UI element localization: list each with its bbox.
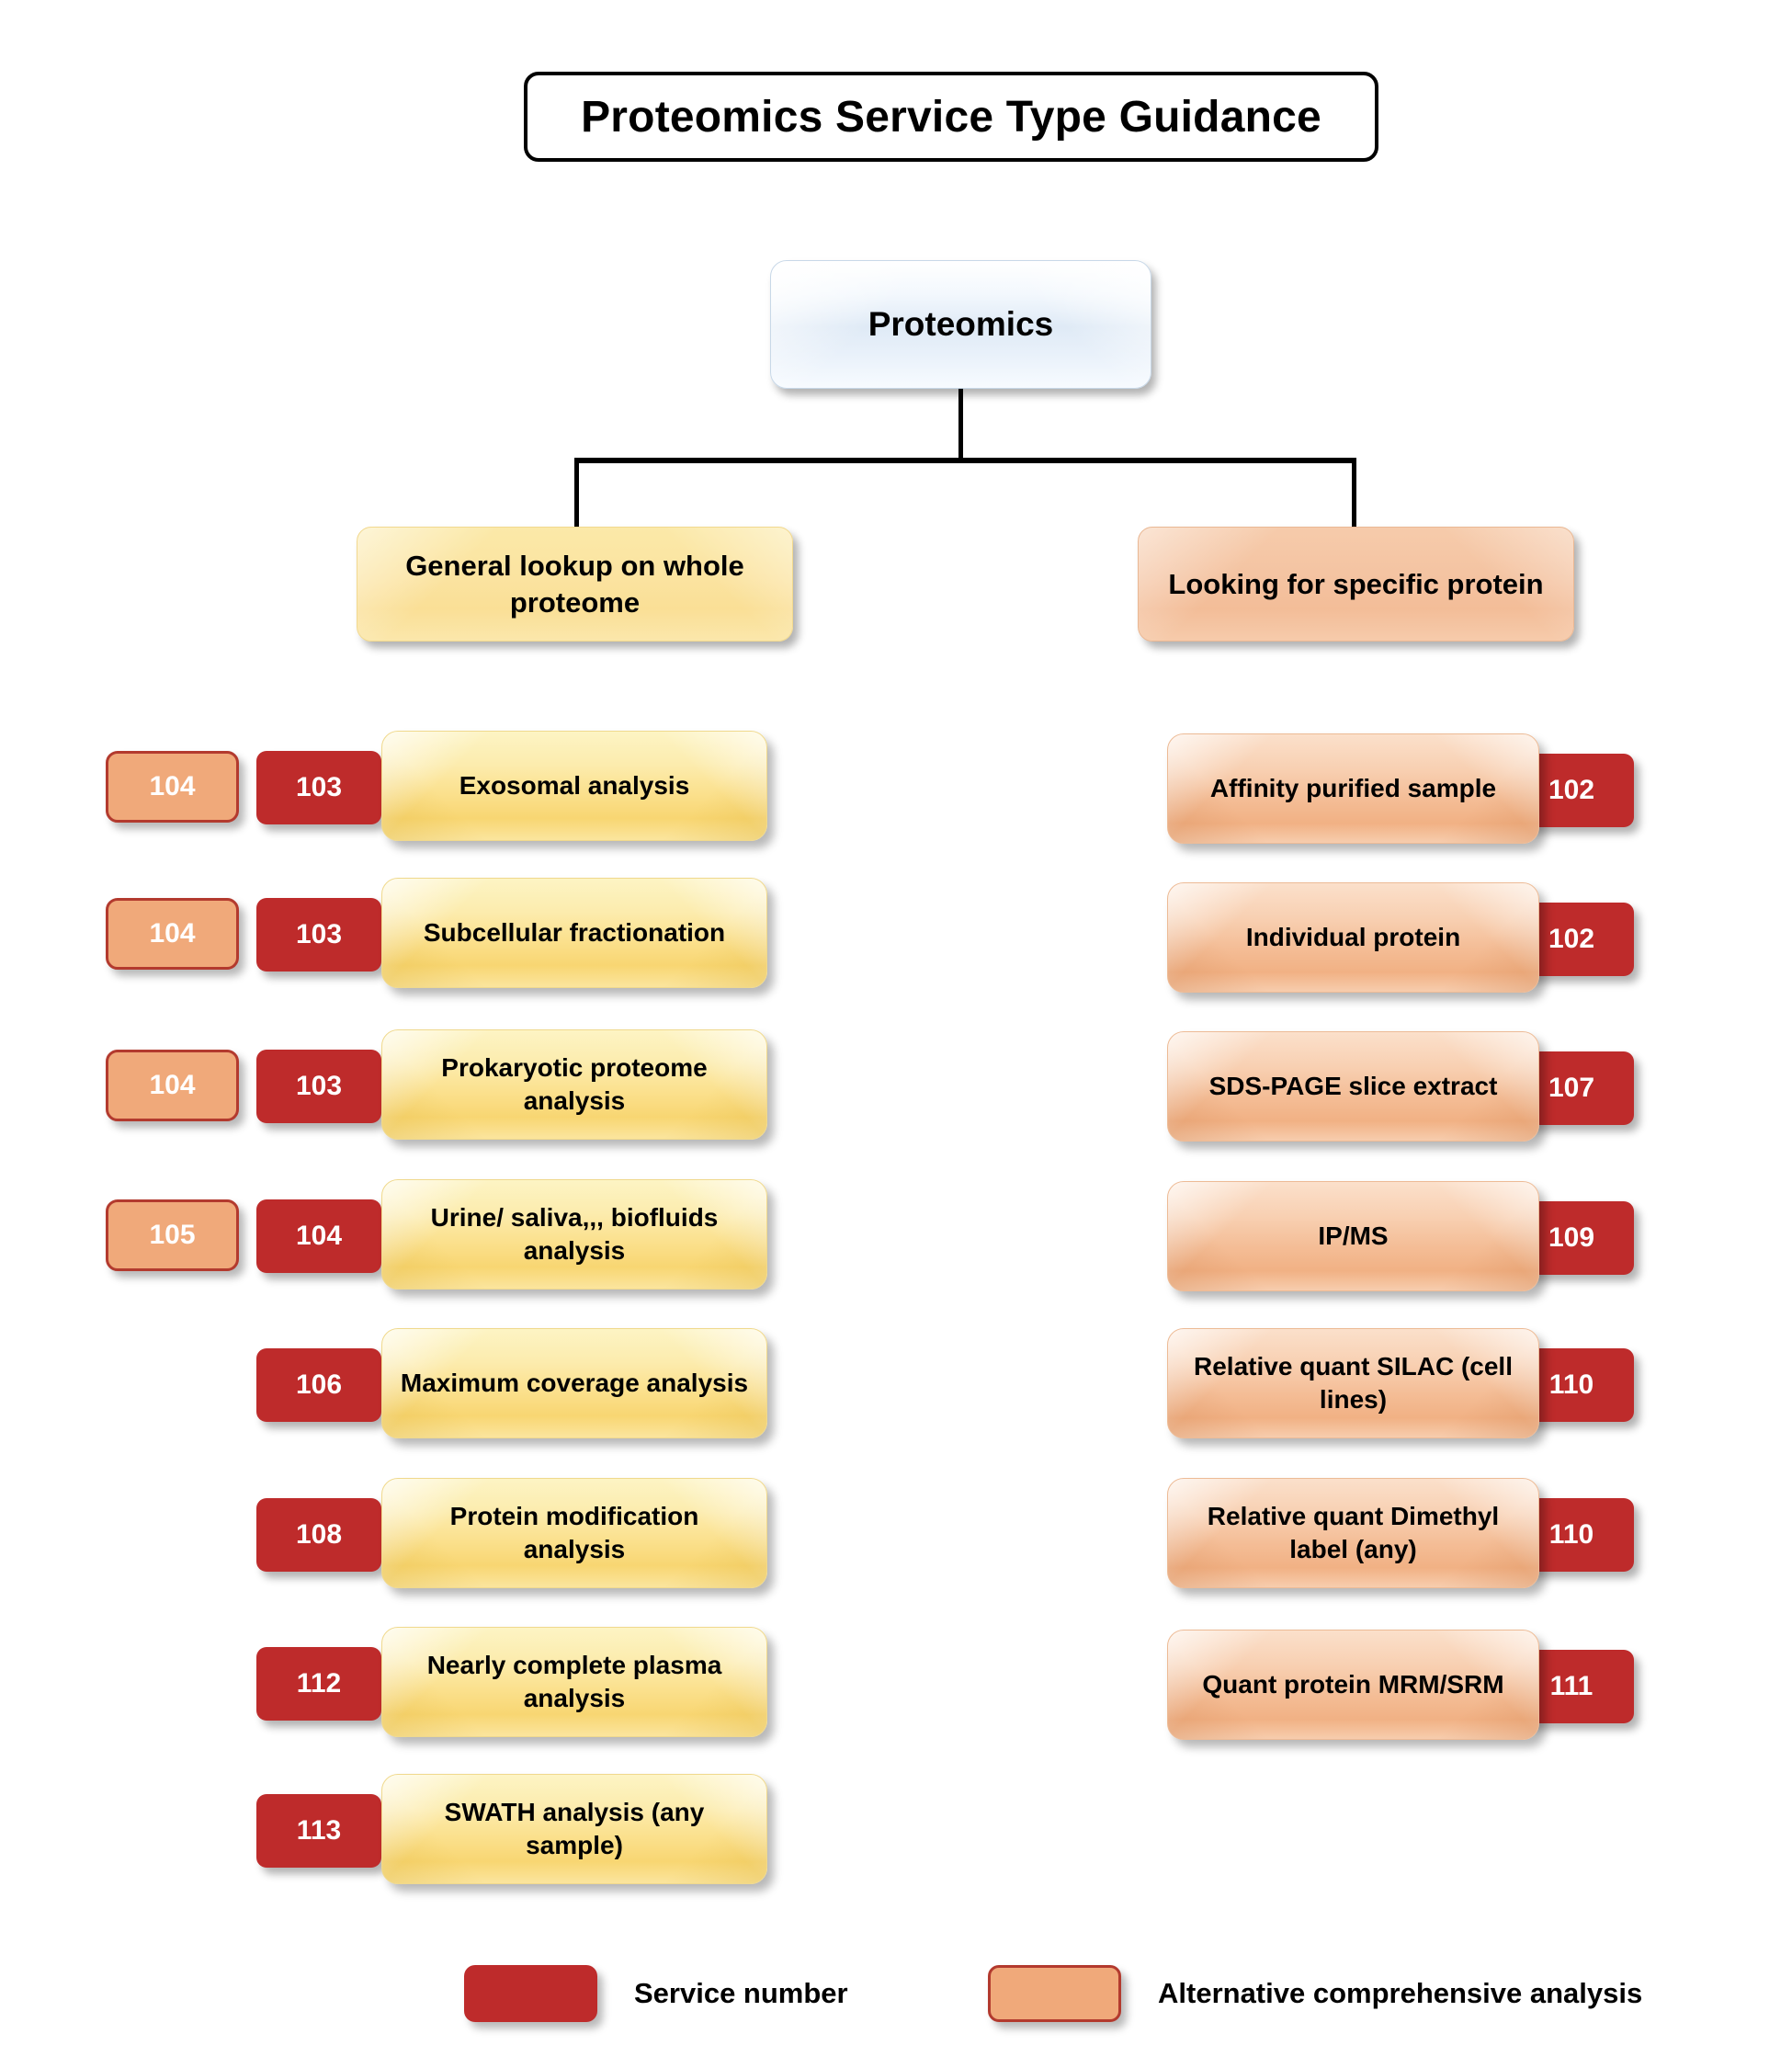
branch-left-label: General lookup on whole proteome — [357, 548, 792, 620]
list-item[interactable]: 104 103 Prokaryotic proteome analysis — [106, 1029, 767, 1140]
service-box[interactable]: IP/MS — [1167, 1181, 1539, 1291]
branch-specific-protein[interactable]: Looking for specific protein — [1138, 527, 1574, 642]
service-box[interactable]: Urine/ saliva,,, biofluids analysis — [381, 1179, 767, 1290]
list-item[interactable]: Relative quant SILAC (cell lines) 110 — [1167, 1328, 1668, 1438]
service-number-value: 103 — [296, 772, 342, 803]
connector-drop-right — [1352, 458, 1356, 531]
page-title: Proteomics Service Type Guidance — [581, 92, 1321, 142]
legend: Service number Alternative comprehensive… — [0, 1958, 1792, 2040]
service-box-label: Exosomal analysis — [443, 769, 707, 802]
alternative-badge-value: 104 — [149, 1070, 195, 1101]
list-item[interactable]: SDS-PAGE slice extract 107 — [1167, 1031, 1668, 1142]
legend-item-alternative: Alternative comprehensive analysis — [988, 1965, 1642, 2022]
service-box-label: Relative quant SILAC (cell lines) — [1168, 1350, 1538, 1417]
service-box-label: SWATH analysis (any sample) — [382, 1796, 766, 1863]
service-box[interactable]: Prokaryotic proteome analysis — [381, 1029, 767, 1140]
service-box[interactable]: SDS-PAGE slice extract — [1167, 1031, 1539, 1142]
service-box[interactable]: SWATH analysis (any sample) — [381, 1774, 767, 1884]
service-box[interactable]: Quant protein MRM/SRM — [1167, 1630, 1539, 1740]
service-box-label: Maximum coverage analysis — [384, 1367, 765, 1400]
service-box-label: Prokaryotic proteome analysis — [382, 1051, 766, 1119]
page-title-box: Proteomics Service Type Guidance — [524, 72, 1378, 162]
list-item[interactable]: Affinity purified sample 102 — [1167, 733, 1668, 844]
service-box[interactable]: Subcellular fractionation — [381, 878, 767, 988]
alternative-badge-value: 104 — [149, 918, 195, 949]
service-number-badge[interactable]: 113 — [256, 1794, 381, 1868]
service-box[interactable]: Maximum coverage analysis — [381, 1328, 767, 1438]
service-number-badge[interactable]: 112 — [256, 1647, 381, 1721]
alternative-badge[interactable]: 104 — [106, 751, 239, 823]
service-number-value: 102 — [1548, 775, 1594, 806]
list-item[interactable]: 104 103 Subcellular fractionation — [106, 878, 767, 988]
branch-right-label: Looking for specific protein — [1168, 566, 1543, 603]
connector-drop-left — [574, 458, 579, 531]
service-number-value: 113 — [297, 1815, 341, 1846]
list-item[interactable]: Quant protein MRM/SRM 111 — [1167, 1630, 1668, 1740]
alternative-badge[interactable]: 104 — [106, 898, 239, 970]
root-node-proteomics[interactable]: Proteomics — [770, 260, 1151, 389]
legend-label-alternative: Alternative comprehensive analysis — [1158, 1977, 1642, 2010]
list-item[interactable]: 104 103 Exosomal analysis — [106, 731, 767, 841]
service-box-label: Quant protein MRM/SRM — [1185, 1668, 1520, 1701]
service-number-badge[interactable]: 103 — [256, 1050, 381, 1123]
service-box[interactable]: Affinity purified sample — [1167, 733, 1539, 844]
service-number-value: 110 — [1549, 1519, 1594, 1551]
legend-swatch-alternative — [988, 1965, 1121, 2022]
service-number-value: 104 — [296, 1221, 342, 1252]
alternative-badge-value: 104 — [149, 771, 195, 802]
service-box[interactable]: Relative quant SILAC (cell lines) — [1167, 1328, 1539, 1438]
legend-item-service-number: Service number — [464, 1965, 848, 2022]
service-number-value: 108 — [296, 1519, 342, 1551]
list-item[interactable]: IP/MS 109 — [1167, 1181, 1668, 1291]
legend-swatch-service-number — [464, 1965, 597, 2022]
list-item[interactable]: 113 SWATH analysis (any sample) — [106, 1774, 767, 1884]
service-number-badge[interactable]: 106 — [256, 1348, 381, 1422]
service-box-label: Nearly complete plasma analysis — [382, 1649, 766, 1716]
service-box-label: Individual protein — [1230, 921, 1477, 954]
service-box[interactable]: Exosomal analysis — [381, 731, 767, 841]
list-item[interactable]: 112 Nearly complete plasma analysis — [106, 1627, 767, 1737]
service-number-value: 110 — [1549, 1369, 1594, 1401]
service-box-label: SDS-PAGE slice extract — [1193, 1070, 1514, 1103]
service-box-label: Urine/ saliva,,, biofluids analysis — [382, 1201, 766, 1268]
service-number-value: 103 — [296, 1071, 342, 1102]
service-number-badge[interactable]: 103 — [256, 898, 381, 972]
list-item[interactable]: Relative quant Dimethyl label (any) 110 — [1167, 1478, 1668, 1588]
service-box[interactable]: Protein modification analysis — [381, 1478, 767, 1588]
service-box[interactable]: Individual protein — [1167, 882, 1539, 993]
service-number-value: 106 — [296, 1369, 342, 1401]
list-item[interactable]: Individual protein 102 — [1167, 882, 1668, 993]
service-box-label: Relative quant Dimethyl label (any) — [1168, 1500, 1538, 1567]
service-box-label: IP/MS — [1301, 1220, 1404, 1253]
alternative-badge-value: 105 — [149, 1220, 195, 1251]
root-node-label: Proteomics — [868, 305, 1054, 344]
alternative-badge[interactable]: 104 — [106, 1050, 239, 1121]
alternative-badge[interactable]: 105 — [106, 1199, 239, 1271]
service-number-value: 103 — [296, 919, 342, 950]
legend-label-service-number: Service number — [634, 1977, 848, 2010]
list-item[interactable]: 106 Maximum coverage analysis — [106, 1328, 767, 1438]
service-box[interactable]: Nearly complete plasma analysis — [381, 1627, 767, 1737]
service-box-label: Affinity purified sample — [1194, 772, 1513, 805]
connector-root-stem — [958, 389, 963, 461]
branch-general-lookup[interactable]: General lookup on whole proteome — [357, 527, 793, 642]
service-number-value: 111 — [1550, 1671, 1594, 1702]
service-box[interactable]: Relative quant Dimethyl label (any) — [1167, 1478, 1539, 1588]
service-number-value: 107 — [1548, 1073, 1594, 1104]
service-number-value: 102 — [1548, 924, 1594, 955]
service-box-label: Subcellular fractionation — [407, 916, 742, 949]
service-number-value: 112 — [297, 1668, 341, 1699]
connector-horizontal-bar — [574, 458, 1356, 463]
service-number-badge[interactable]: 104 — [256, 1199, 381, 1273]
service-number-badge[interactable]: 103 — [256, 751, 381, 824]
service-number-badge[interactable]: 108 — [256, 1498, 381, 1572]
list-item[interactable]: 108 Protein modification analysis — [106, 1478, 767, 1588]
service-box-label: Protein modification analysis — [382, 1500, 766, 1567]
service-number-value: 109 — [1548, 1222, 1594, 1254]
list-item[interactable]: 105 104 Urine/ saliva,,, biofluids analy… — [106, 1179, 767, 1290]
